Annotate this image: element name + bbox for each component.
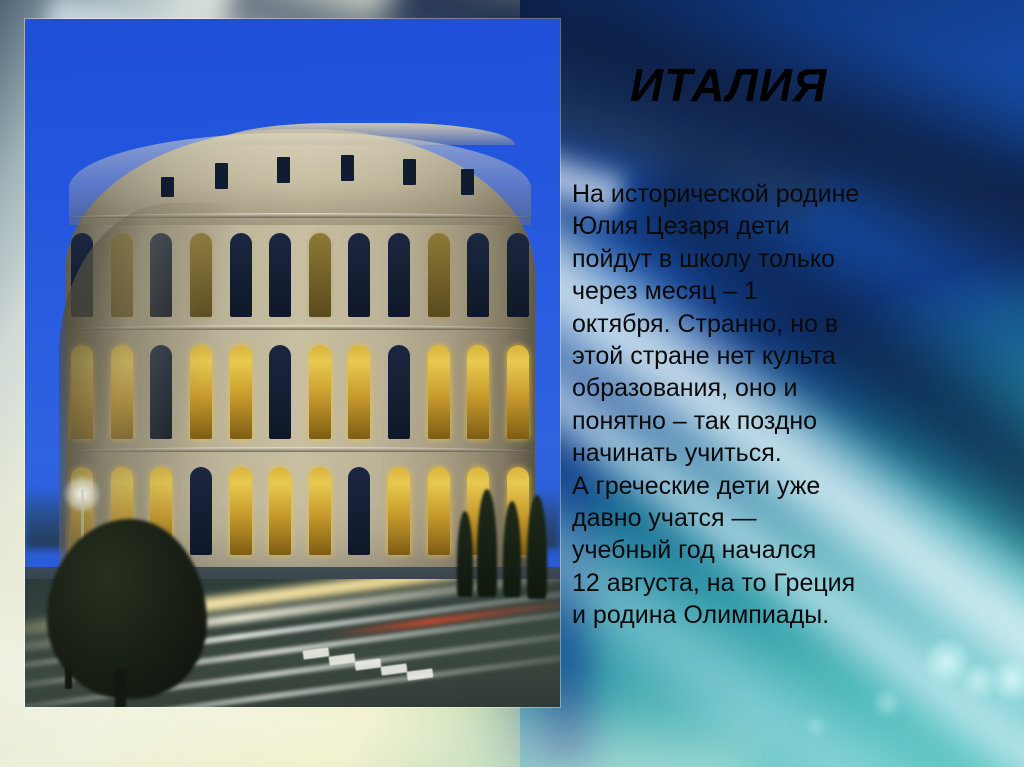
colosseum-arch bbox=[348, 467, 370, 555]
colosseum-arch bbox=[507, 233, 529, 317]
colosseum-arch bbox=[428, 233, 450, 317]
colosseum-arch bbox=[269, 467, 291, 555]
colosseum-arch bbox=[388, 345, 410, 439]
colosseum-attic-window bbox=[461, 169, 474, 195]
colosseum-arch bbox=[269, 233, 291, 317]
body-line: Юлия Цезаря дети bbox=[572, 210, 1012, 242]
body-line: через месяц – 1 bbox=[572, 275, 1012, 307]
colosseum-attic-window bbox=[161, 177, 174, 197]
colosseum-attic-window bbox=[277, 157, 290, 183]
body-line: октября. Странно, но в bbox=[572, 308, 1012, 340]
body-line: пойдут в школу только bbox=[572, 243, 1012, 275]
body-line: 12 августа, на то Греция bbox=[572, 567, 1012, 599]
crosswalk-stripe bbox=[381, 663, 408, 675]
colosseum-arch bbox=[269, 345, 291, 439]
page-title: ИТАЛИЯ bbox=[630, 62, 827, 108]
colosseum-arch bbox=[507, 345, 529, 439]
colosseum-attic-window bbox=[403, 159, 416, 185]
presentation-slide: ИТАЛИЯ На исторической родине Юлия Цезар… bbox=[0, 0, 1024, 767]
colosseum-arch bbox=[467, 345, 489, 439]
crosswalk-stripe bbox=[407, 668, 434, 680]
colosseum-arch bbox=[348, 345, 370, 439]
colosseum-arch bbox=[309, 345, 331, 439]
colosseum-arch bbox=[348, 233, 370, 317]
colosseum-arch bbox=[428, 467, 450, 555]
crosswalk-stripe bbox=[355, 658, 382, 670]
colosseum-arch bbox=[309, 467, 331, 555]
body-line: этой стране нет культа bbox=[572, 340, 1012, 372]
colosseum-attic-window bbox=[215, 163, 228, 189]
foreground-tree-trunk bbox=[115, 669, 126, 707]
body-line: давно учатся — bbox=[572, 502, 1012, 534]
body-line: понятно – так поздно bbox=[572, 405, 1012, 437]
colosseum-arch bbox=[467, 233, 489, 317]
colosseum-arch bbox=[428, 345, 450, 439]
pedestrian-figure bbox=[65, 667, 72, 689]
body-line: образования, оно и bbox=[572, 372, 1012, 404]
body-line: На исторической родине bbox=[572, 178, 1012, 210]
crosswalk-stripe bbox=[303, 647, 330, 659]
colosseum-arch bbox=[388, 467, 410, 555]
body-line: и родина Олимпиады. bbox=[572, 599, 1012, 631]
colosseum-attic-window bbox=[341, 155, 354, 181]
colosseum-photo bbox=[25, 19, 560, 707]
slide-body-text: На исторической родине Юлия Цезаря дети … bbox=[572, 178, 1012, 632]
colosseum-arch bbox=[388, 233, 410, 317]
body-line: начинать учиться. bbox=[572, 437, 1012, 469]
body-line: учебный год начался bbox=[572, 534, 1012, 566]
body-line: А греческие дети уже bbox=[572, 470, 1012, 502]
colosseum-arch bbox=[309, 233, 331, 317]
